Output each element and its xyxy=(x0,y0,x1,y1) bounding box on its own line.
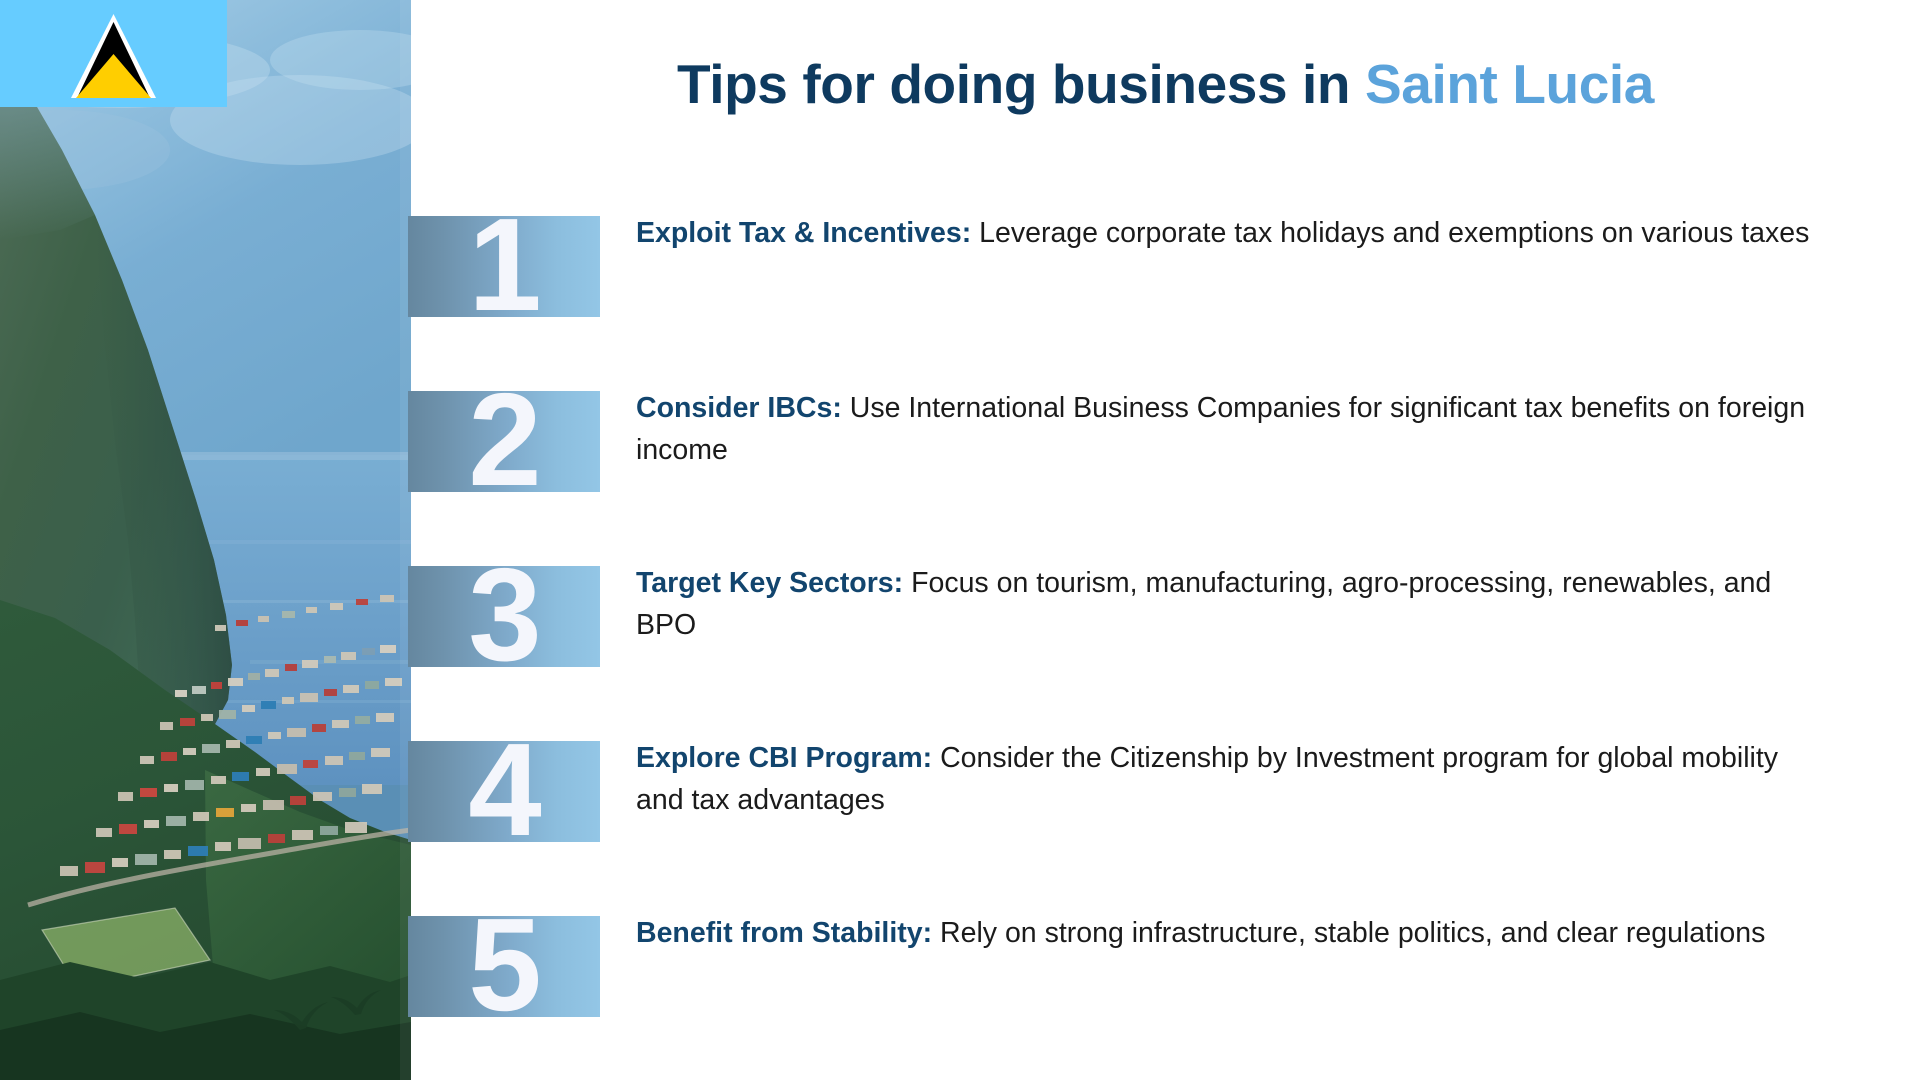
tip-text: Exploit Tax & Incentives: Leverage corpo… xyxy=(636,212,1816,254)
tip-body: Rely on strong infrastructure, stable po… xyxy=(932,917,1765,949)
flag-icon xyxy=(0,0,227,107)
tip-text: Explore CBI Program: Consider the Citize… xyxy=(636,737,1816,821)
page-title: Tips for doing business in Saint Lucia xyxy=(411,52,1920,116)
tip-number-badge xyxy=(408,566,600,667)
background-photo xyxy=(0,0,411,1080)
tip-number-badge xyxy=(408,741,600,842)
tip-lead: Explore CBI Program: xyxy=(636,742,932,774)
page-title-main: Tips for doing business in xyxy=(677,53,1365,115)
list-item: 1 Exploit Tax & Incentives: Leverage cor… xyxy=(411,206,1920,381)
list-item: 5 Benefit from Stability: Rely on strong… xyxy=(411,906,1920,1080)
slide-root: Tips for doing business in Saint Lucia 1… xyxy=(0,0,1920,1080)
tips-list: 1 Exploit Tax & Incentives: Leverage cor… xyxy=(411,206,1920,1080)
list-item: 4 Explore CBI Program: Consider the Citi… xyxy=(411,731,1920,906)
list-item: 2 Consider IBCs: Use International Busin… xyxy=(411,381,1920,556)
tip-text: Consider IBCs: Use International Busines… xyxy=(636,387,1816,471)
saint-lucia-flag xyxy=(0,0,227,107)
tip-lead: Exploit Tax & Incentives: xyxy=(636,217,971,249)
tip-number-badge xyxy=(408,216,600,317)
tip-number-badge xyxy=(408,391,600,492)
tip-lead: Consider IBCs: xyxy=(636,392,842,424)
tip-text: Target Key Sectors: Focus on tourism, ma… xyxy=(636,562,1816,646)
content-panel: Tips for doing business in Saint Lucia 1… xyxy=(411,0,1920,1080)
tip-lead: Target Key Sectors: xyxy=(636,567,903,599)
photo-illustration xyxy=(0,0,411,1080)
list-item: 3 Target Key Sectors: Focus on tourism, … xyxy=(411,556,1920,731)
tip-lead: Benefit from Stability: xyxy=(636,917,932,949)
tip-text: Benefit from Stability: Rely on strong i… xyxy=(636,912,1816,954)
tip-number-badge xyxy=(408,916,600,1017)
tip-body: Leverage corporate tax holidays and exem… xyxy=(971,217,1809,249)
page-title-accent: Saint Lucia xyxy=(1365,53,1654,115)
